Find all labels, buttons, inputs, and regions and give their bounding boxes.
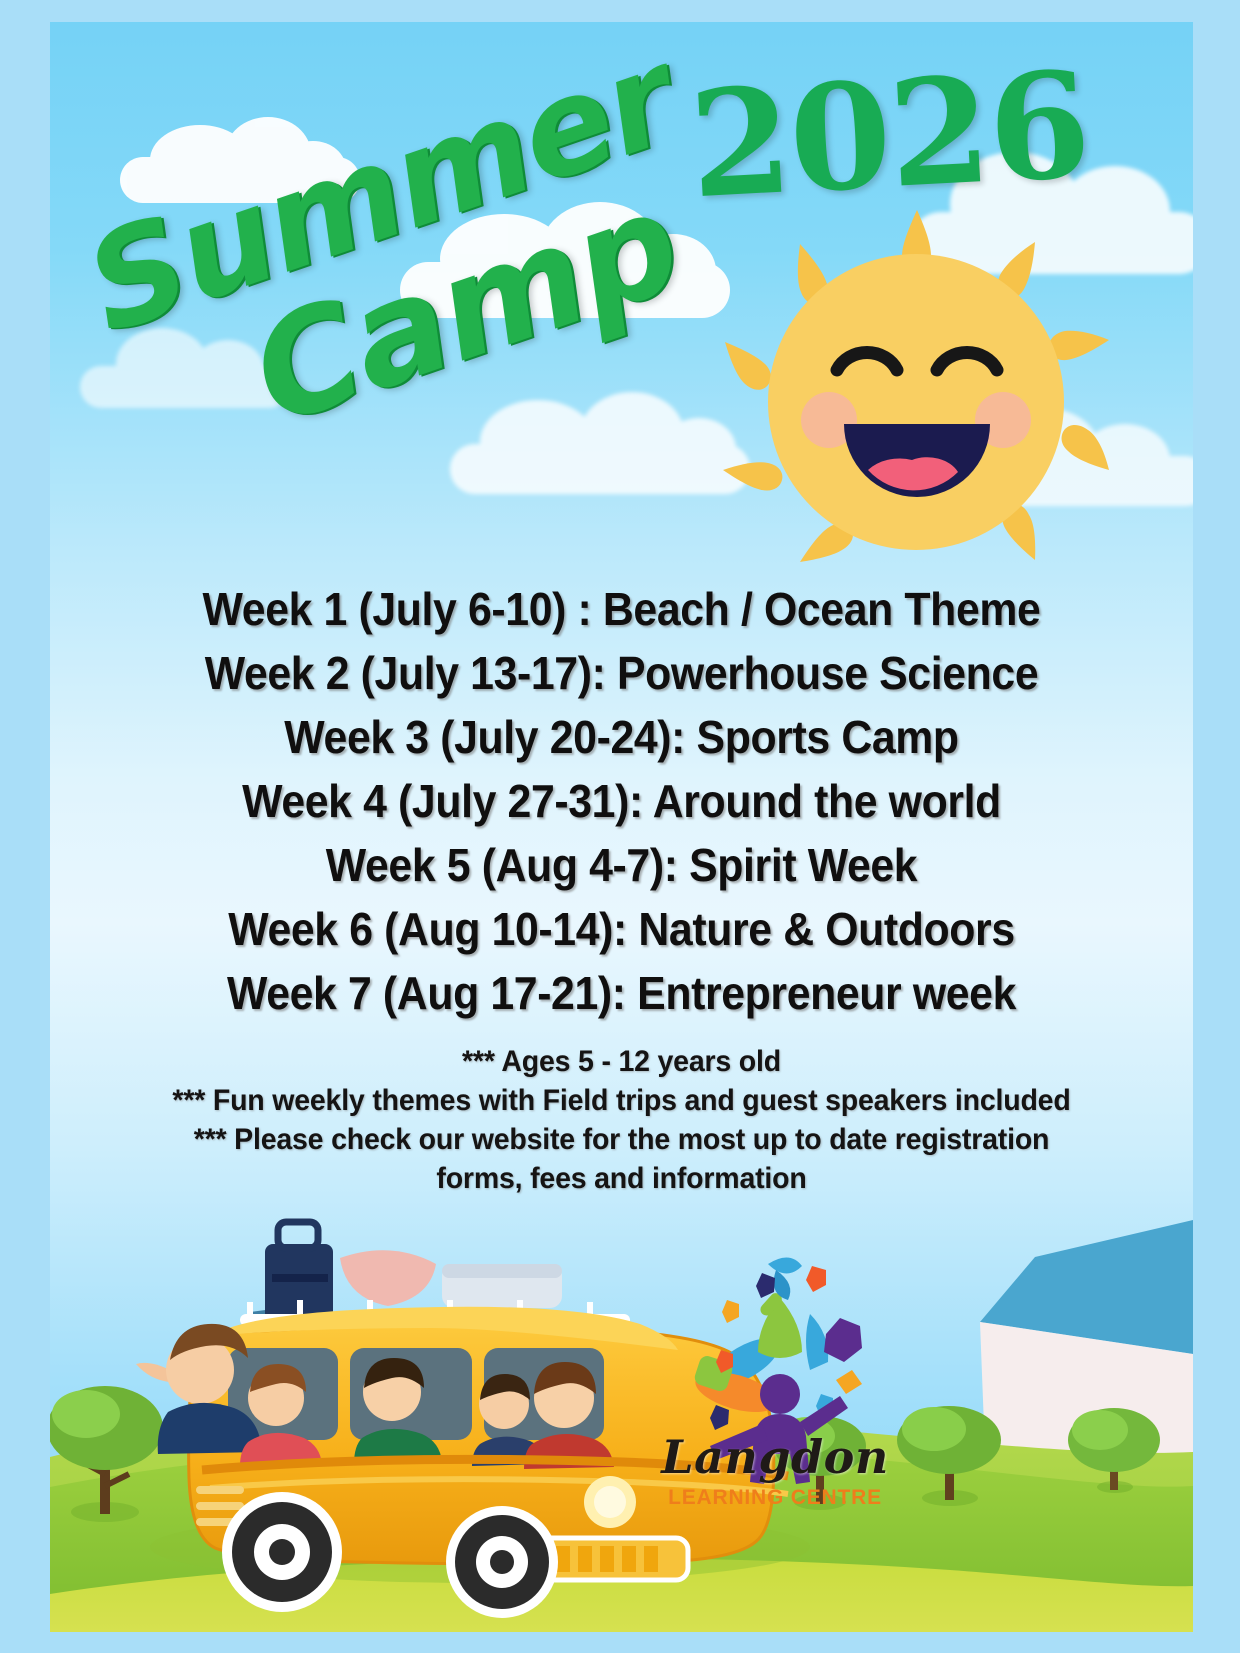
week-item: Week 5 (Aug 4-7): Spirit Week <box>90 833 1153 897</box>
poster-title: Summer Camp <box>50 22 719 600</box>
poster-year: 2026 <box>686 40 1093 232</box>
bus-wheel-front <box>446 1506 558 1618</box>
week-item: Week 2 (July 13-17): Powerhouse Science <box>90 641 1153 705</box>
bus-wheel-rear <box>222 1492 342 1612</box>
note-item: *** Fun weekly themes with Field trips a… <box>79 1081 1165 1120</box>
poster-border: Summer Camp 2026 Week 1 (July 6-10) : Be… <box>0 0 1240 1653</box>
logo-pencil <box>836 1370 862 1394</box>
note-item: *** Ages 5 - 12 years old <box>79 1042 1165 1081</box>
sun-illustration <box>705 202 1125 602</box>
week-item: Week 6 (Aug 10-14): Nature & Outdoors <box>90 897 1153 961</box>
logo-tagline: LEARNING CENTRE <box>640 1486 910 1510</box>
week-item: Week 1 (July 6-10) : Beach / Ocean Theme <box>90 577 1153 641</box>
note-item: *** Please check our website for the mos… <box>79 1120 1165 1159</box>
bottom-scene <box>50 1202 1193 1632</box>
logo-wordmark: Langdon <box>640 1430 910 1484</box>
week-list: Week 1 (July 6-10) : Beach / Ocean Theme… <box>50 577 1193 1025</box>
week-item: Week 3 (July 20-24): Sports Camp <box>90 705 1153 769</box>
week-item: Week 4 (July 27-31): Around the world <box>90 769 1153 833</box>
notes-list: *** Ages 5 - 12 years old *** Fun weekly… <box>50 1042 1193 1198</box>
poster-canvas: Summer Camp 2026 Week 1 (July 6-10) : Be… <box>50 22 1193 1632</box>
note-item: forms, fees and information <box>79 1159 1165 1198</box>
week-item: Week 7 (Aug 17-21): Entrepreneur week <box>90 961 1153 1025</box>
